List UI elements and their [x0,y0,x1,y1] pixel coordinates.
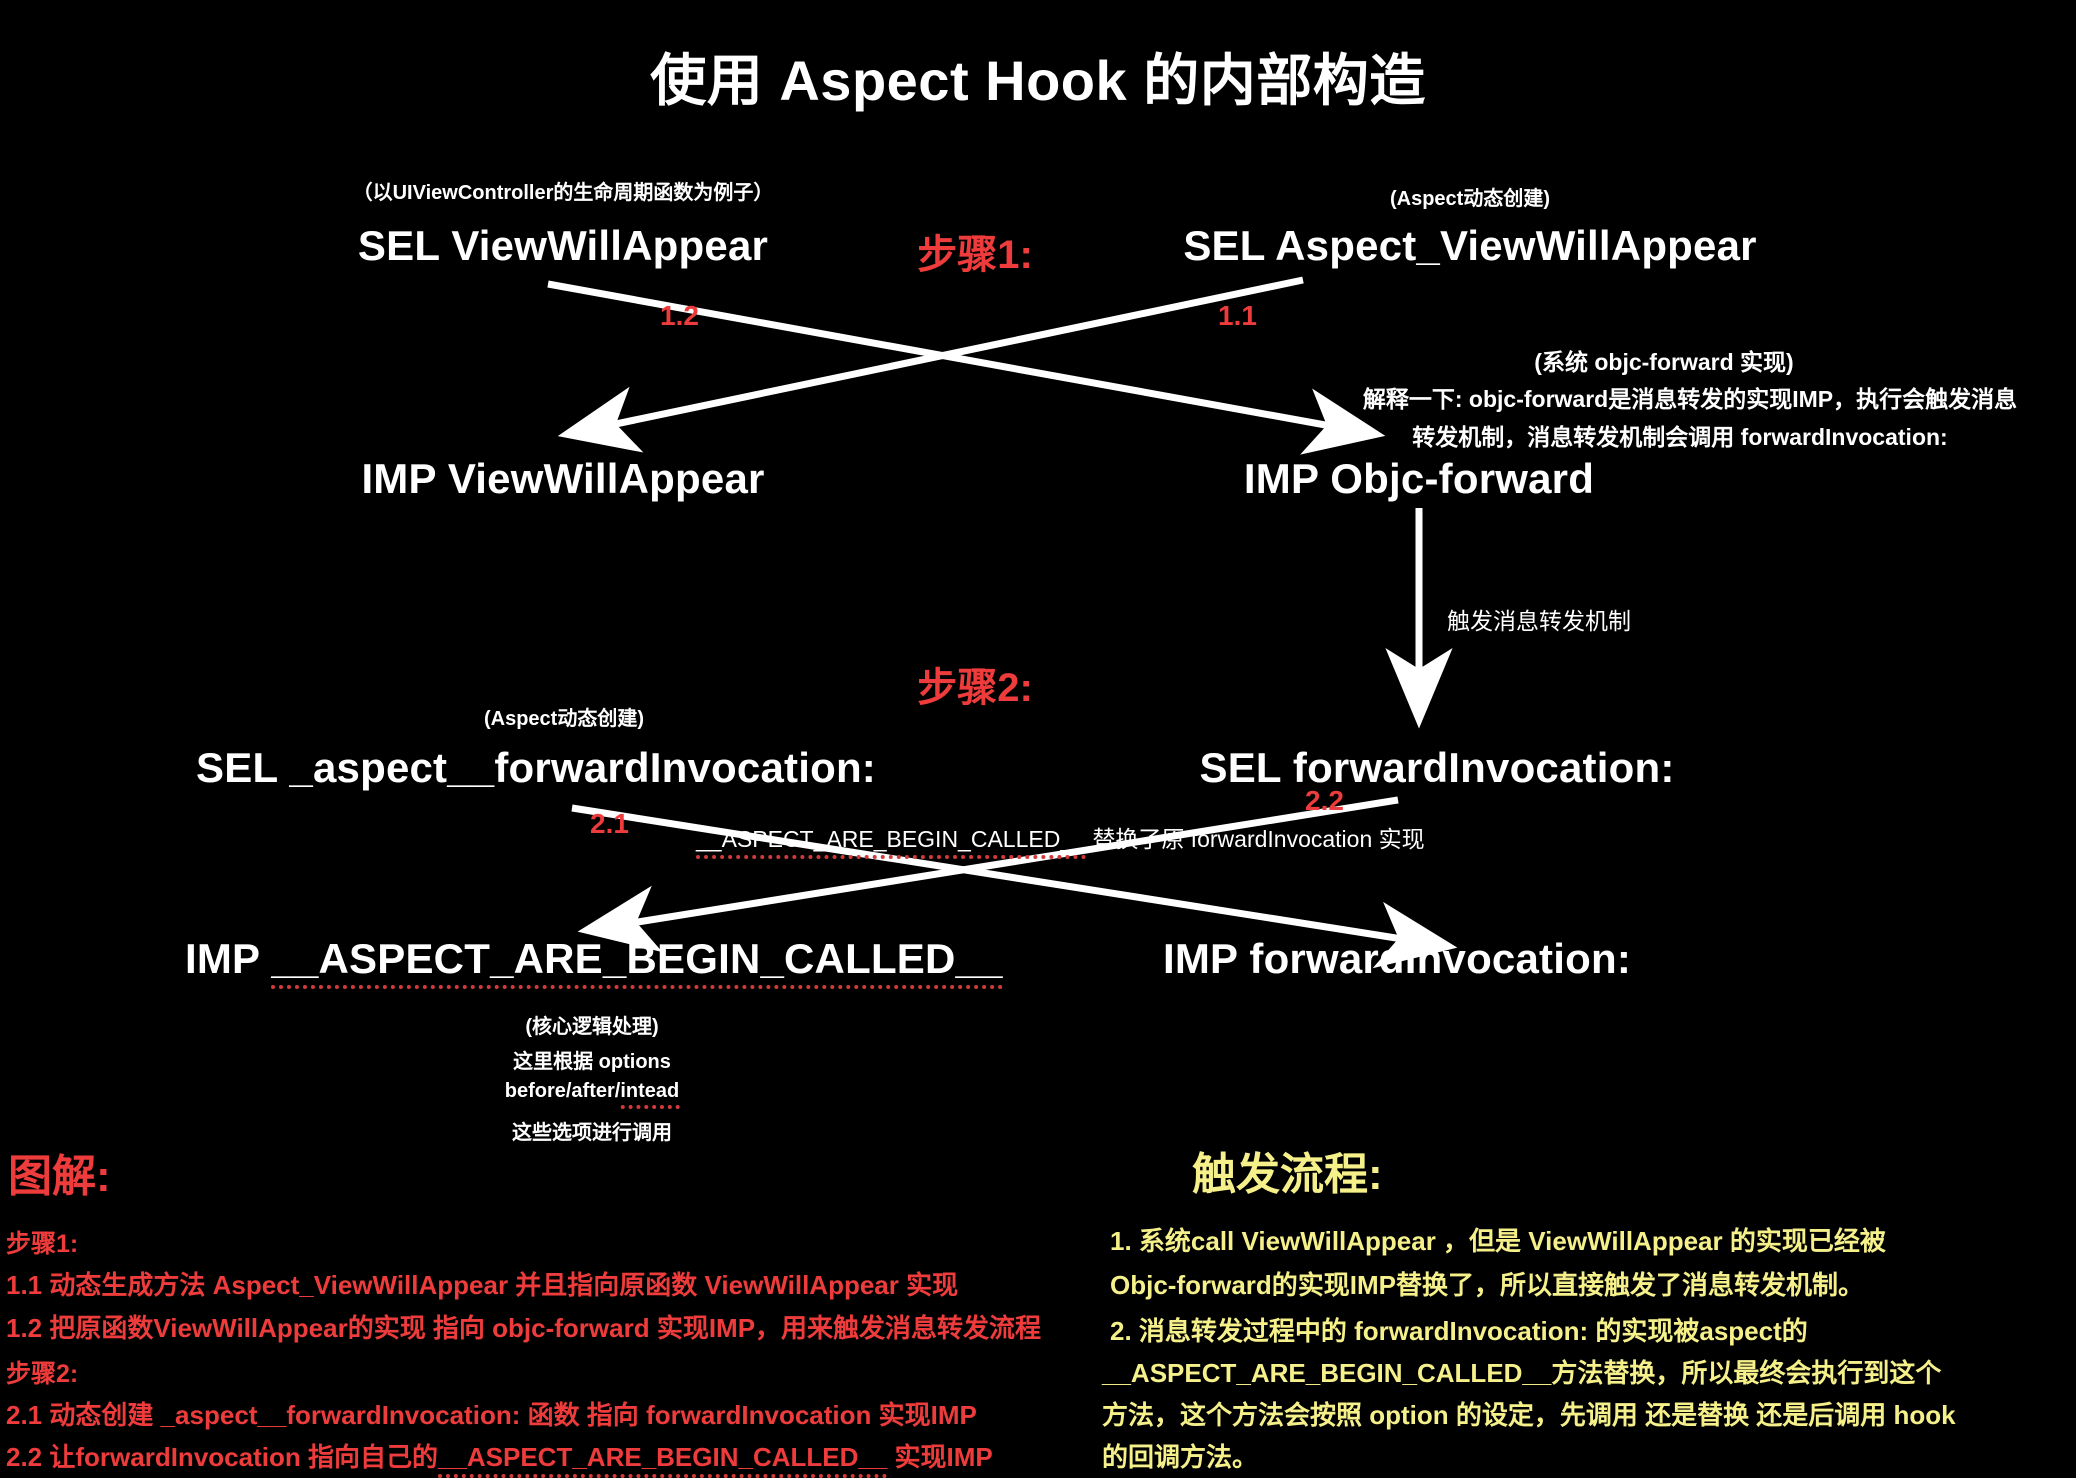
legend-right-item2-line1: 2. 消息转发过程中的 forwardInvocation: 的实现被aspec… [1110,1318,1808,1344]
step-1-marker: 步骤1: [917,222,1033,280]
objc-forward-note-line2: 转发机制，消息转发机制会调用 forwardInvocation: [1412,418,1947,452]
node-sel-aspect-viewwillappear: SEL Aspect_ViewWillAppear [1183,222,1756,270]
legend-left-item-1-1: 1.1 动态生成方法 Aspect_ViewWillAppear 并且指向原函数… [6,1272,958,1298]
legend-right-item2-symbol: __ASPECT_ARE_BEGIN_CALLED__ [1102,1358,1551,1388]
legend-right-item2-line2: __ASPECT_ARE_BEGIN_CALLED__方法替换，所以最终会执行到… [1102,1360,1941,1386]
edge-label-2-1: 2.1 [590,808,629,840]
core-note-options-prefix: before/after/ [505,1080,621,1102]
legend-left-item-2-2-symbol: __ASPECT_ARE_BEGIN_CALLED__ [438,1442,887,1478]
core-note-line1: (核心逻辑处理) [525,1010,658,1039]
edge-label-1-1: 1.1 [1218,300,1257,332]
step-2-marker: 步骤2: [917,655,1033,713]
legend-left-heading: 图解: [8,1140,111,1204]
objc-forward-note-line1: 解释一下: objc-forward是消息转发的实现IMP，执行会触发消息 [1363,380,2017,414]
core-note-line4: 这些选项进行调用 [512,1116,672,1145]
node-imp-aspect-are-begin-called: IMP __ASPECT_ARE_BEGIN_CALLED__ [185,935,1003,983]
legend-left-item-1-2: 1.2 把原函数ViewWillAppear的实现 指向 objc-forwar… [6,1315,1041,1341]
legend-left-group1-title: 步骤1: [6,1232,78,1257]
core-note-line3: before/after/intead [505,1080,680,1103]
legend-right-heading: 触发流程: [1192,1138,1383,1202]
imp-prefix: IMP [185,935,271,982]
node-sel-forwardinvocation: SEL forwardInvocation: [1199,744,1674,792]
caption-uiviewcontroller-example: （以UIViewController的生命周期函数为例子） [353,176,774,205]
node-sel-aspect-forwardinvocation: SEL _aspect__forwardInvocation: [196,744,876,792]
legend-left-item-2-1: 2.1 动态创建 _aspect__forwardInvocation: 函数 … [6,1402,977,1428]
edge-label-1-2: 1.2 [660,300,699,332]
node-imp-viewwillappear: IMP ViewWillAppear [361,455,764,503]
legend-left-group2-title: 步骤2: [6,1362,78,1387]
page-title: 使用 Aspect Hook 的内部构造 [650,36,1425,117]
legend-right-item1-line2: Objc-forward的实现IMP替换了，所以直接触发了消息转发机制。 [1110,1272,1864,1298]
legend-right-item2-line3: 方法，这个方法会按照 option 的设定，先调用 还是替换 还是后调用 hoo… [1102,1402,1956,1428]
step2-mid-note-symbol: __ASPECT_ARE_BEGIN_CALLED__ [696,826,1086,859]
legend-right-item2-line2-rest: 方法替换，所以最终会执行到这个 [1551,1358,1941,1388]
core-note-line2: 这里根据 options [513,1045,671,1074]
caption-aspect-dynamic-create-2: (Aspect动态创建) [484,702,644,731]
caption-aspect-dynamic-create-1: (Aspect动态创建) [1390,182,1550,211]
step2-mid-note: __ASPECT_ARE_BEGIN_CALLED__ 替换了原 forward… [696,820,1425,854]
legend-right-item1-line1: 1. 系统call ViewWillAppear ，但是 ViewWillApp… [1110,1228,1886,1254]
label-trigger-forwarding: 触发消息转发机制 [1447,602,1631,636]
legend-left-item-2-2-post: 实现IMP [887,1442,992,1472]
legend-left-item-2-2: 2.2 让forwardInvocation 指向自己的__ASPECT_ARE… [6,1444,993,1470]
imp-aspect-symbol: __ASPECT_ARE_BEGIN_CALLED__ [271,935,1002,989]
legend-right-item2-line4: 的回调方法。 [1102,1444,1258,1470]
objc-forward-note-header: (系统 objc-forward 实现) [1534,343,1793,377]
node-sel-viewwillappear: SEL ViewWillAppear [358,222,768,270]
step2-mid-note-rest: 替换了原 forwardInvocation 实现 [1092,826,1424,852]
node-imp-forwardinvocation: IMP forwardInvocation: [1163,935,1631,983]
node-imp-objc-forward: IMP Objc-forward [1244,455,1594,503]
legend-left-item-2-2-pre: 2.2 让forwardInvocation 指向自己的 [6,1442,438,1472]
core-note-options-typo: intead [620,1080,679,1109]
edge-label-2-2: 2.2 [1305,785,1344,817]
